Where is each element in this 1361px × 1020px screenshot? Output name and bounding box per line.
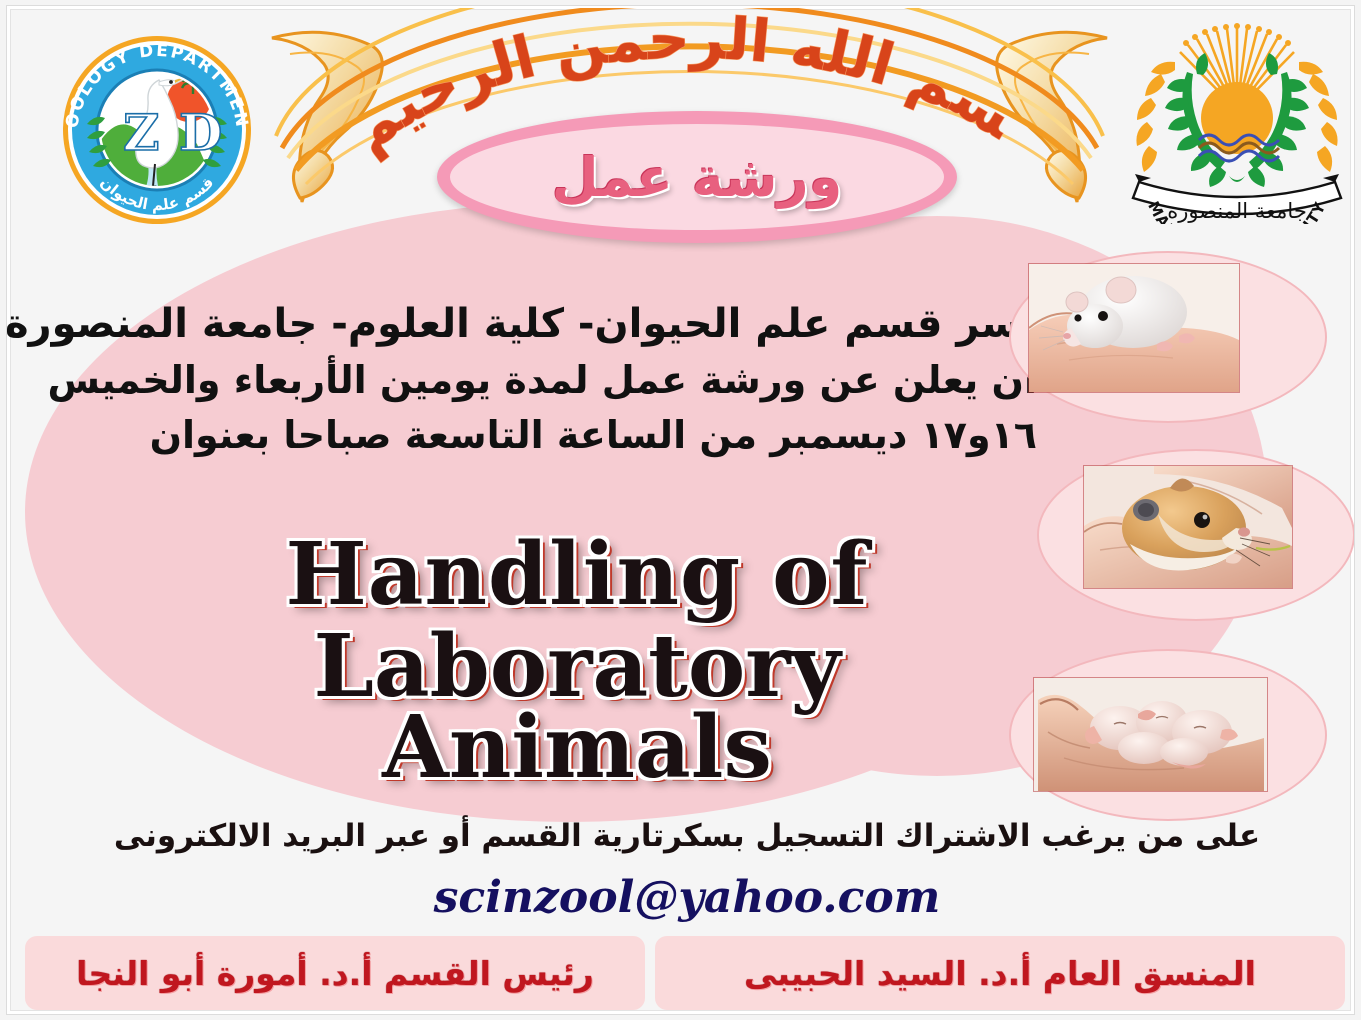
- photo-golden-hamster-in-hands: [1084, 466, 1292, 588]
- footer-general-coordinator: المنسق العام أ.د. السيد الحبيبى: [655, 936, 1345, 1010]
- registration-email[interactable]: scinzool@yahoo.com: [47, 872, 1327, 923]
- workshop-title: Handling of Laboratory Animals: [127, 534, 1027, 789]
- mansoura-university-logo: MANSOURA UNIVERSITY جامعة المنصورة: [1117, 14, 1355, 224]
- registration-note: على من يرغب الاشتراك التسجيل بسكرتارية ا…: [47, 818, 1327, 854]
- footer-head-of-department: رئيس القسم أ.د. أمورة أبو النجا: [25, 936, 645, 1010]
- zoology-department-logo: Z D ZOOLOGY DEPARTMENT قسم علم الحيوان: [47, 28, 267, 228]
- mansoura-logo-ar-text: جامعة المنصورة: [1167, 199, 1307, 223]
- workshop-title-line-1: Handling of: [127, 534, 1027, 616]
- photo-white-mouse-in-hand: [1029, 264, 1239, 392]
- announcement-line-2: أن يعلن عن ورشة عمل لمدة يومين الأربعاء …: [157, 361, 1037, 400]
- announcement-line-3: ١٦و١٧ ديسمبر من الساعة التاسعة صباحا بعن…: [157, 416, 1037, 455]
- svg-text:Z: Z: [123, 103, 160, 162]
- poster-root: Z D ZOOLOGY DEPARTMENT قسم علم الحيوان: [0, 0, 1361, 1020]
- footer-head-of-department-text: رئيس القسم أ.د. أمورة أبو النجا: [76, 954, 594, 993]
- workshop-title-line-2: Laboratory Animals: [127, 626, 1027, 789]
- workshop-label: ورشة عمل: [552, 146, 843, 209]
- workshop-badge-inner: ورشة عمل: [437, 111, 957, 243]
- footer-general-coordinator-text: المنسق العام أ.د. السيد الحبيبى: [744, 954, 1256, 993]
- workshop-badge: ورشة عمل: [437, 111, 957, 243]
- announcement-line-1: يسر قسم علم الحيوان- كلية العلوم- جامعة …: [157, 304, 1037, 345]
- svg-text:D: D: [179, 103, 222, 162]
- announcement-text-block: يسر قسم علم الحيوان- كلية العلوم- جامعة …: [157, 304, 1037, 470]
- photo-newborn-mice-in-palm: [1034, 678, 1267, 791]
- poster-canvas: Z D ZOOLOGY DEPARTMENT قسم علم الحيوان: [6, 5, 1355, 1015]
